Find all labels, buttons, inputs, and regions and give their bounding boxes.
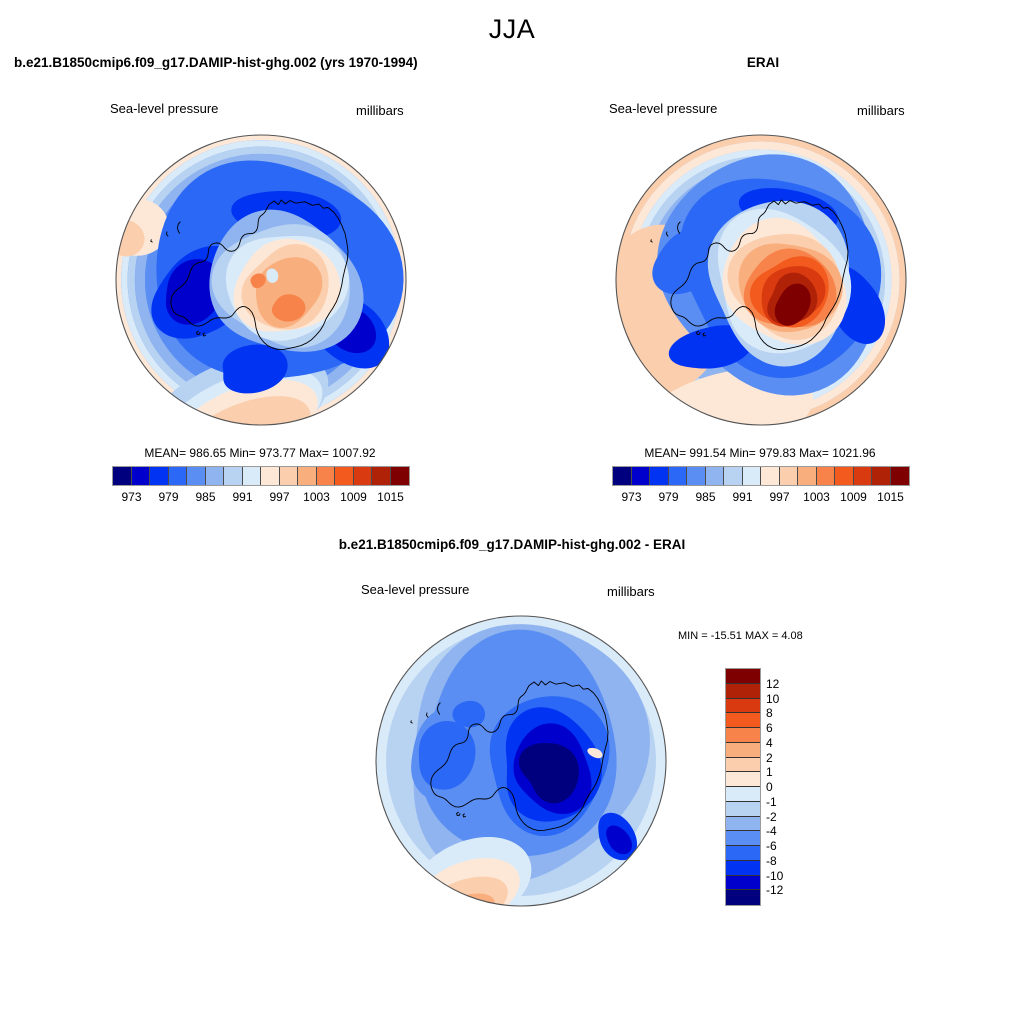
colorbar-cell [298,467,317,485]
colorbar-cell [632,467,651,485]
colorbar-cell [261,467,280,485]
colorbar-tick-label: 985 [695,490,715,504]
colorbar-tick-label: 979 [658,490,678,504]
colorbar-cell [726,861,760,876]
map-model-svg [112,131,410,429]
colorbar-cell [317,467,336,485]
colorbar-cell [187,467,206,485]
colorbar-cell [150,467,169,485]
panel-units-label-diff: millibars [607,584,655,599]
colorbar-tick-label: 1009 [340,490,367,504]
panel-units-label-obs: millibars [857,103,905,118]
colorbar-tick-label: 997 [269,490,289,504]
colorbar-cell [726,713,760,728]
colorbar-cell [817,467,836,485]
colorbar-tick-label: -12 [766,883,783,897]
panel-variable-label-obs: Sea-level pressure [609,101,717,116]
colorbar-tick-label: 991 [232,490,252,504]
colorbar-tick-label: 973 [621,490,641,504]
colorbar-tick-label: -2 [766,810,777,824]
map-obs [612,131,910,429]
colorbar-cell [726,772,760,787]
stats-model: MEAN= 986.65 Min= 973.77 Max= 1007.92 [110,446,410,460]
colorbar-cell [113,467,132,485]
colorbar-tick-label: 12 [766,677,779,691]
colorbar-cell [132,467,151,485]
colorbar-cell [780,467,799,485]
colorbar-tick-label: -4 [766,824,777,838]
colorbar-model: 973979985991997100310091015 [112,466,410,508]
colorbar-tick-label: 10 [766,692,779,706]
colorbar-tick-label: 979 [158,490,178,504]
colorbar-tick-label: 0 [766,780,773,794]
colorbar-tick-label: 1015 [877,490,904,504]
colorbar-cell [798,467,817,485]
colorbar-diff [725,668,761,906]
panel-title-diff: b.e21.B1850cmip6.f09_g17.DAMIP-hist-ghg.… [182,537,842,552]
colorbar-tick-label: 1009 [840,490,867,504]
colorbar-cell [726,817,760,832]
colorbar-cell [706,467,725,485]
colorbar-cell [835,467,854,485]
colorbar-cell [669,467,688,485]
colorbar-tick-label: -8 [766,854,777,868]
colorbar-diff-labels: 1210864210-1-2-4-6-8-10-12 [766,668,806,906]
colorbar-tick-label: 985 [195,490,215,504]
colorbar-cell [391,467,410,485]
colorbar-cell [872,467,891,485]
colorbar-tick-label: 2 [766,751,773,765]
colorbar-cell [726,876,760,891]
colorbar-cell [726,890,760,905]
colorbar-cell [224,467,243,485]
map-diff-svg [372,612,670,910]
colorbar-tick-label: 1 [766,765,773,779]
stats-obs: MEAN= 991.54 Min= 979.83 Max= 1021.96 [610,446,910,460]
colorbar-cell [650,467,669,485]
panel-title-model: b.e21.B1850cmip6.f09_g17.DAMIP-hist-ghg.… [14,55,418,70]
colorbar-cell [761,467,780,485]
colorbar-tick-label: 973 [121,490,141,504]
page-title: JJA [0,14,1024,45]
colorbar-cell [372,467,391,485]
colorbar-cell [354,467,373,485]
colorbar-tick-label: 8 [766,706,773,720]
colorbar-obs: 973979985991997100310091015 [612,466,910,508]
colorbar-cell [169,467,188,485]
map-model [112,131,410,429]
colorbar-tick-label: 1003 [303,490,330,504]
panel-variable-label-diff: Sea-level pressure [361,582,469,597]
colorbar-cell [206,467,225,485]
colorbar-tick-label: 997 [769,490,789,504]
colorbar-tick-label: -10 [766,869,783,883]
colorbar-tick-label: 4 [766,736,773,750]
colorbar-tick-label: 991 [732,490,752,504]
colorbar-tick-label: -6 [766,839,777,853]
panel-variable-label-model: Sea-level pressure [110,101,218,116]
colorbar-cell [743,467,762,485]
colorbar-cell [891,467,910,485]
colorbar-cell [726,802,760,817]
colorbar-cell [687,467,706,485]
colorbar-cell [854,467,873,485]
colorbar-cell [726,758,760,773]
panel-title-obs: ERAI [608,55,918,70]
map-obs-svg [612,131,910,429]
colorbar-cell [726,846,760,861]
colorbar-cell [613,467,632,485]
colorbar-cell [726,699,760,714]
colorbar-cell [726,684,760,699]
colorbar-tick-label: 1015 [377,490,404,504]
minmax-diff: MIN = -15.51 MAX = 4.08 [678,630,803,642]
colorbar-tick-label: 1003 [803,490,830,504]
colorbar-tick-label: -1 [766,795,777,809]
colorbar-cell [724,467,743,485]
colorbar-cell [726,743,760,758]
colorbar-cell [243,467,262,485]
colorbar-cell [726,787,760,802]
colorbar-cell [335,467,354,485]
panel-units-label-model: millibars [356,103,404,118]
map-diff [372,612,670,910]
colorbar-cell [726,831,760,846]
colorbar-cell [726,728,760,743]
colorbar-tick-label: 6 [766,721,773,735]
colorbar-cell [726,669,760,684]
colorbar-cell [280,467,299,485]
